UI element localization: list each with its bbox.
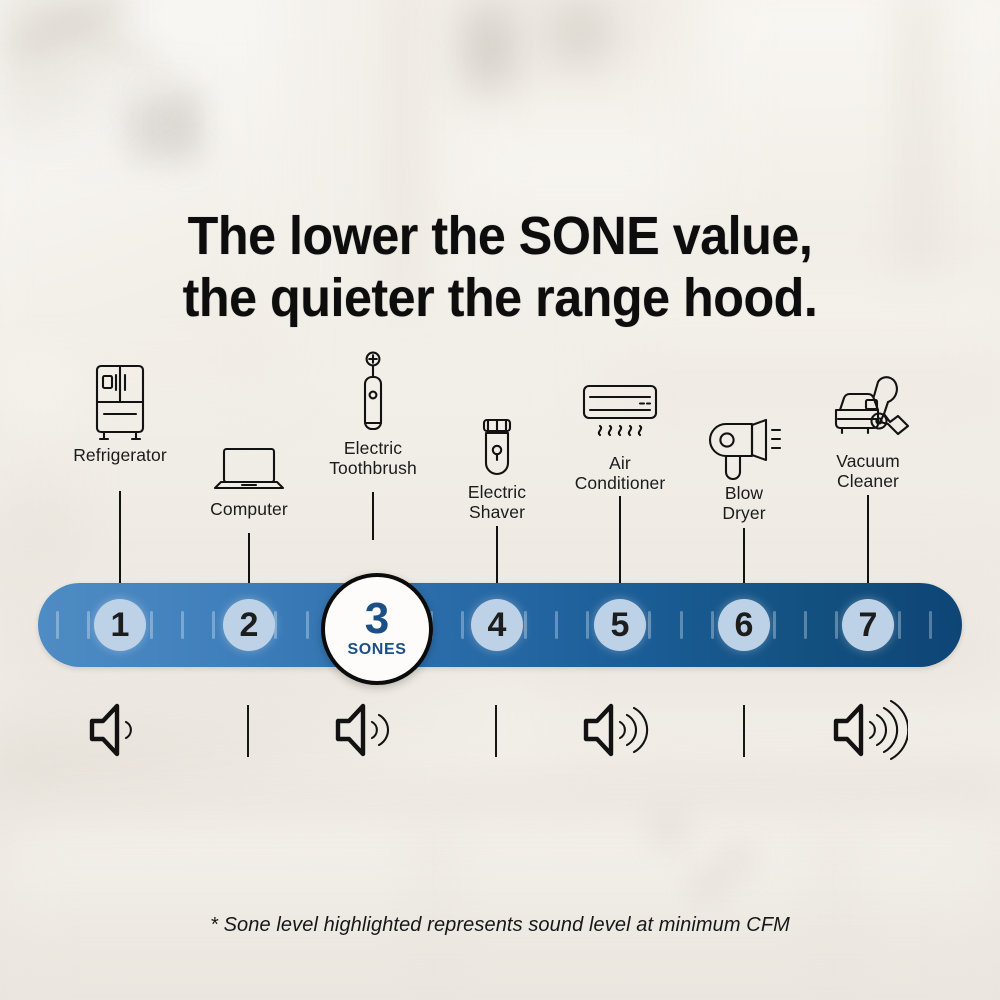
leader-line (867, 495, 869, 583)
scale-tick (680, 611, 683, 639)
scale-tick (306, 611, 309, 639)
scale-tick (87, 611, 90, 639)
appliance-label-line: Shaver (397, 503, 597, 523)
speaker-divider (495, 705, 497, 757)
infographic-root: The lower the SONE value, the quieter th… (0, 0, 1000, 1000)
scale-tick (181, 611, 184, 639)
appliance-label-line: Computer (149, 500, 349, 520)
scale-tick (555, 611, 558, 639)
scale-tick (56, 611, 59, 639)
scale-tick (586, 611, 589, 639)
speaker-volume-2-icon (332, 700, 410, 765)
headline-line-2: the quieter the range hood. (35, 268, 965, 330)
leader-line (496, 526, 498, 583)
appliance-marker-vacuum-cleaner: VacuumCleaner (768, 384, 968, 491)
highlighted-sone-unit: SONES (347, 641, 406, 659)
leader-line (248, 533, 250, 583)
sone-number-badge[interactable]: 1 (94, 599, 146, 651)
scale-tick (711, 611, 714, 639)
speaker-divider (247, 705, 249, 757)
appliance-label-line: Dryer (644, 504, 844, 524)
sone-number-badge[interactable]: 6 (718, 599, 770, 651)
appliance-label-line: Vacuum (768, 452, 968, 472)
scale-tick (835, 611, 838, 639)
speaker-volume-1-icon (86, 700, 164, 765)
scale-tick (929, 611, 932, 639)
scale-tick (773, 611, 776, 639)
vacuum-cleaner-icon (768, 384, 968, 448)
scale-tick (524, 611, 527, 639)
footnote: * Sone level highlighted represents soun… (0, 914, 1000, 937)
speaker-volume-3-icon (580, 700, 658, 765)
sone-number-badge[interactable]: 2 (223, 599, 275, 651)
leader-line (372, 492, 374, 540)
highlighted-sone-badge[interactable]: 3SONES (321, 573, 433, 685)
scale-tick (461, 611, 464, 639)
leader-line (119, 491, 121, 583)
appliance-label-line: Cleaner (768, 472, 968, 492)
speaker-volume-4-icon (830, 700, 908, 765)
highlighted-sone-value: 3 (365, 599, 389, 639)
speaker-divider (743, 705, 745, 757)
scale-tick (150, 611, 153, 639)
scale-tick (212, 611, 215, 639)
sone-number-badge[interactable]: 7 (842, 599, 894, 651)
leader-line (743, 528, 745, 583)
sone-number-badge[interactable]: 4 (471, 599, 523, 651)
headline-line-1: The lower the SONE value, (35, 206, 965, 268)
scale-tick (648, 611, 651, 639)
appliance-label: Computer (149, 500, 349, 520)
sone-number-badge[interactable]: 5 (594, 599, 646, 651)
leader-line (619, 496, 621, 583)
scale-tick (804, 611, 807, 639)
scale-tick (898, 611, 901, 639)
page-title: The lower the SONE value, the quieter th… (35, 206, 965, 329)
appliance-label: VacuumCleaner (768, 452, 968, 491)
